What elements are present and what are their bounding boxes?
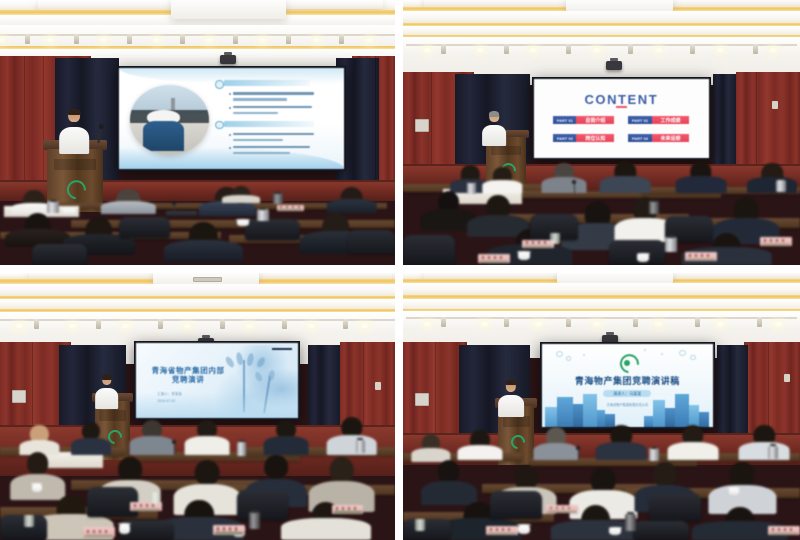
teacup	[729, 488, 739, 495]
projection-screen-frame: 青海物产集团竞聘演讲稿 演讲人：马某某 青海省物产集团有限责任公司	[540, 342, 715, 429]
thermos	[768, 446, 778, 459]
slide-title-city: 青海物产集团竞聘演讲稿 演讲人：马某某 青海省物产集团有限责任公司	[542, 344, 713, 427]
name-placard	[760, 237, 792, 245]
slide-title: CONTENT	[534, 92, 709, 107]
agenda-tag-4: PART 04	[628, 134, 651, 142]
agenda-tag-2: PART 02	[628, 116, 651, 124]
collage-panel-top-left	[0, 0, 399, 269]
thermos	[625, 514, 636, 530]
speaker-person	[59, 109, 89, 154]
ceiling-projector	[220, 55, 236, 64]
thermos	[649, 448, 659, 461]
wall-plaque	[415, 393, 429, 406]
slide-heading-2	[224, 121, 314, 127]
name-placard	[768, 526, 800, 535]
projection-screen	[119, 68, 344, 169]
slide-bullets	[119, 68, 344, 169]
projection-screen-frame	[117, 66, 346, 171]
name-placard	[478, 254, 510, 262]
thermos	[467, 182, 477, 194]
projection-screen-frame: CONTENT PART 01 自我介绍 PART 02 工作成绩 PART 0…	[532, 77, 711, 161]
speaker-person	[95, 374, 119, 409]
teacup	[637, 254, 649, 261]
teacup	[63, 209, 75, 214]
thermos	[665, 237, 677, 252]
projection-screen: 青海省物产集团内部 竞聘演讲 汇报人：李某某 2024-07-02	[136, 343, 298, 418]
projection-screen-frame: 青海省物产集团内部 竞聘演讲 汇报人：李某某 2024-07-02	[134, 341, 300, 420]
thermos	[649, 201, 659, 214]
exit-sign-icon	[772, 101, 778, 109]
slide-title: 青海物产集团竞聘演讲稿	[542, 374, 713, 387]
agenda-tag-3: PART 03	[553, 134, 576, 142]
exit-sign-icon	[375, 382, 381, 390]
name-placard	[130, 502, 162, 511]
agenda-label-4: 未来设想	[652, 134, 690, 142]
scene-top-left	[0, 0, 395, 265]
thermos	[237, 442, 246, 456]
wall-plaque	[415, 119, 429, 132]
name-placard	[277, 205, 305, 211]
collage-panel-top-right: CONTENT PART 01 自我介绍 PART 02 工作成绩 PART 0…	[399, 0, 800, 269]
slide-title-line-2: 竞聘演讲	[146, 375, 230, 386]
audience-area	[403, 423, 800, 540]
exit-sign-icon	[784, 374, 790, 382]
slide-corner-mark	[272, 348, 291, 350]
slide-subtitle-2: 2024-07-02	[157, 399, 175, 404]
slide-heading-1	[224, 80, 310, 86]
name-placard	[83, 527, 115, 537]
audience-area	[403, 159, 800, 265]
agenda-label-1: 自我介绍	[576, 116, 614, 124]
thermos	[249, 512, 260, 528]
scene-bottom-left: 青海省物产集团内部 竞聘演讲 汇报人：李某某 2024-07-02	[0, 273, 395, 540]
teacup	[237, 220, 249, 226]
laptop	[166, 211, 198, 216]
scene-top-right: CONTENT PART 01 自我介绍 PART 02 工作成绩 PART 0…	[403, 0, 800, 265]
scene-bottom-right: 青海物产集团竞聘演讲稿 演讲人：马某某 青海省物产集团有限责任公司	[403, 273, 800, 540]
water-bottle	[415, 519, 425, 531]
photo-collage: CONTENT PART 01 自我介绍 PART 02 工作成绩 PART 0…	[0, 0, 800, 540]
thermos	[356, 440, 365, 454]
agenda-label-2: 工作成绩	[652, 116, 690, 124]
thermos	[257, 209, 269, 221]
podium-nameplate	[54, 159, 96, 170]
slide-content-agenda: CONTENT PART 01 自我介绍 PART 02 工作成绩 PART 0…	[534, 79, 709, 159]
speaker-person	[482, 111, 506, 145]
city-skyline-graphic	[542, 389, 713, 427]
name-placard	[486, 526, 518, 535]
thermos	[47, 201, 59, 212]
slide-circular-photo	[130, 85, 209, 154]
water-bottle	[550, 233, 560, 244]
collage-panel-bottom-right: 青海物产集团竞聘演讲稿 演讲人：马某某 青海省物产集团有限责任公司	[399, 269, 800, 540]
name-placard	[213, 525, 245, 535]
wall-plaque	[12, 390, 26, 403]
projection-screen: 青海物产集团竞聘演讲稿 演讲人：马某某 青海省物产集团有限责任公司	[542, 344, 713, 427]
thermos	[776, 180, 786, 192]
agenda-label-3: 岗位认知	[576, 134, 614, 142]
ceiling-vent	[193, 277, 222, 283]
teacup	[518, 252, 530, 259]
audience-area	[0, 186, 395, 266]
collage-panel-bottom-left: 青海省物产集团内部 竞聘演讲 汇报人：李某某 2024-07-02	[0, 269, 399, 540]
agenda-tag-1: PART 01	[553, 116, 576, 124]
water-bottle	[150, 492, 159, 503]
podium-nameplate	[491, 146, 521, 156]
slide-title-lotus: 青海省物产集团内部 竞聘演讲 汇报人：李某某 2024-07-02	[136, 343, 298, 418]
audience-area	[0, 415, 395, 540]
teacup	[518, 526, 530, 534]
ceiling-projector	[606, 61, 622, 70]
name-placard	[685, 252, 717, 260]
name-placard	[332, 505, 364, 514]
teacup	[32, 485, 42, 493]
thermos	[273, 193, 283, 203]
slide-subtitle-1: 汇报人：李某某	[157, 392, 182, 397]
projection-screen: CONTENT PART 01 自我介绍 PART 02 工作成绩 PART 0…	[534, 79, 709, 159]
teacup	[119, 525, 131, 534]
speaker-person	[498, 380, 524, 417]
company-logo-dot-icon	[624, 360, 630, 366]
name-placard	[546, 505, 578, 513]
water-bottle	[24, 515, 34, 528]
